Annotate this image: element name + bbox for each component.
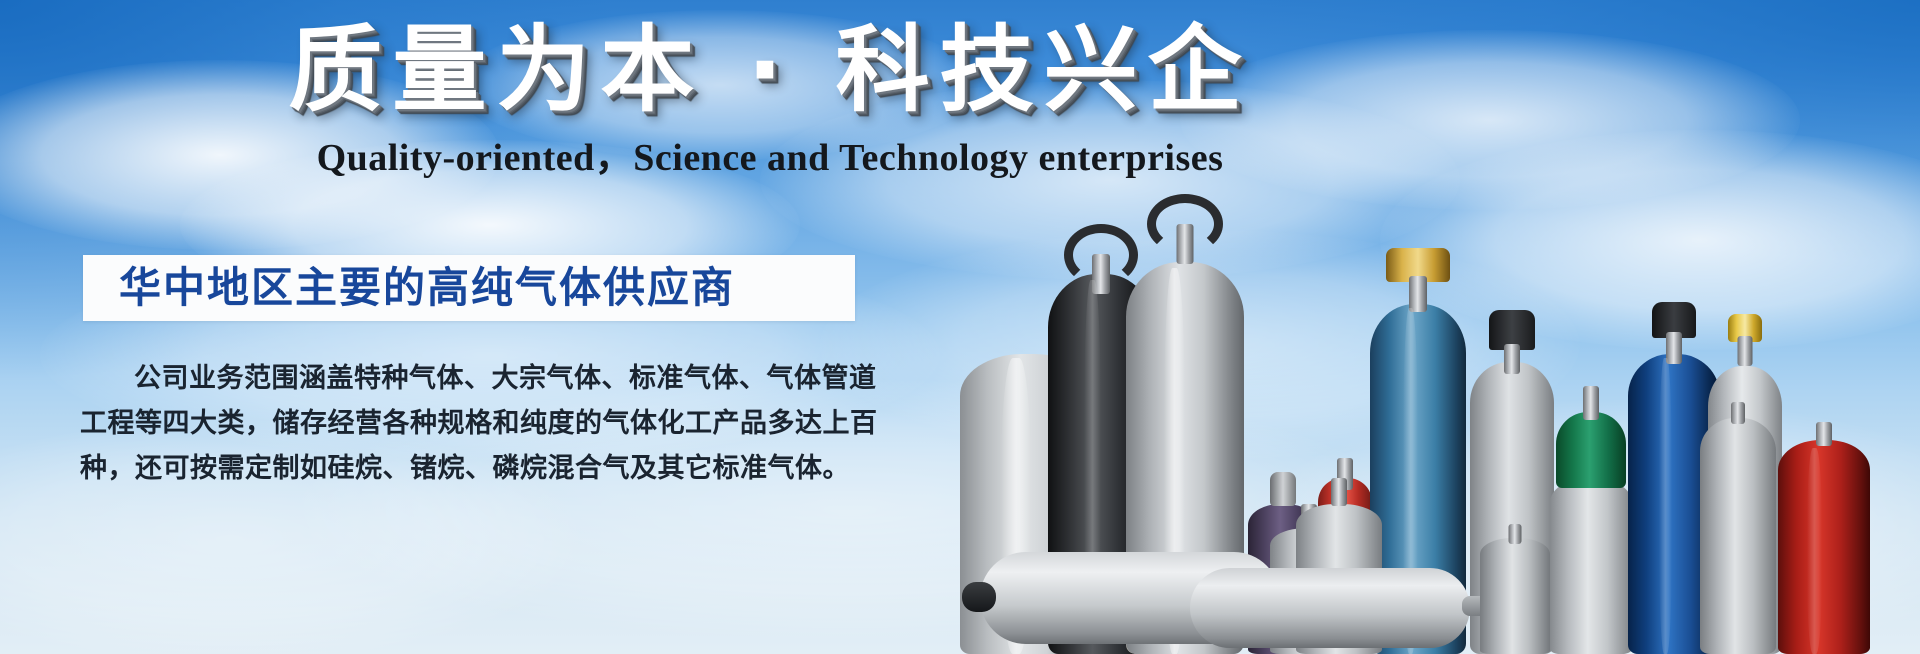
cylinder-silver-right <box>1700 402 1776 654</box>
promo-banner: 质量为本 · 科技兴企 Quality-oriented，Science and… <box>0 0 1920 654</box>
gas-cylinders-photo <box>940 0 1920 654</box>
cylinder-red <box>1778 422 1870 654</box>
cylinder-aluminium-front <box>1480 524 1550 654</box>
cylinder-green-top <box>1550 368 1632 654</box>
cylinder-horizontal-tank <box>1190 568 1490 652</box>
banner-paragraph: 公司业务范围涵盖特种气体、大宗气体、标准气体、气体管道 工程等四大类，储存经营各… <box>80 356 870 491</box>
paragraph-line-2: 工程等四大类，储存经营各种规格和纯度的气体化工产品多达上百 <box>80 401 870 446</box>
highlight-box: 华中地区主要的高纯气体供应商 <box>83 255 855 321</box>
paragraph-line-1: 公司业务范围涵盖特种气体、大宗气体、标准气体、气体管道 <box>80 356 870 401</box>
highlight-box-text: 华中地区主要的高纯气体供应商 <box>119 267 735 309</box>
paragraph-line-3: 种，还可按需定制如硅烷、锗烷、磷烷混合气及其它标准气体。 <box>80 446 870 491</box>
